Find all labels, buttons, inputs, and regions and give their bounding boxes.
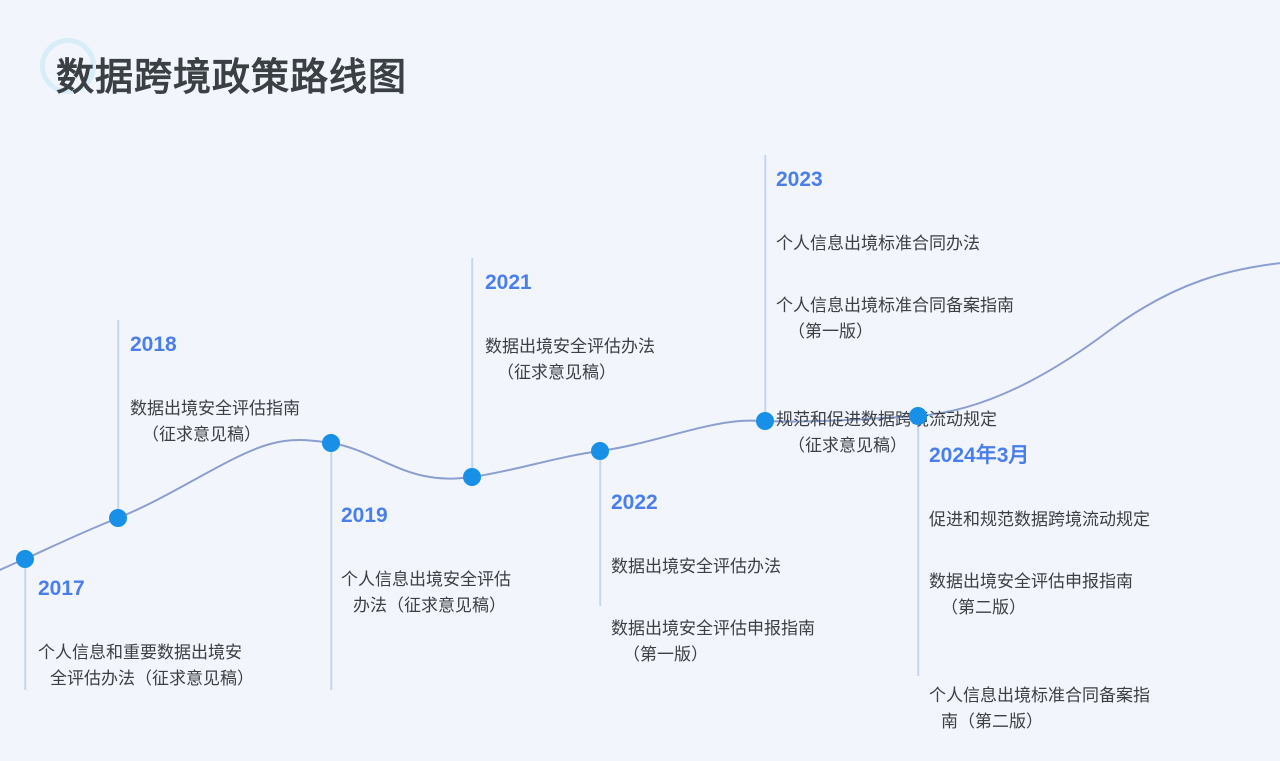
milestone-item: 个人信息出境安全评估 办法（征求意见稿）	[341, 541, 511, 645]
milestone-block-2018[interactable]: 2018 数据出境安全评估指南 （征求意见稿）	[130, 332, 300, 474]
milestone-item: 数据出境安全评估办法	[611, 528, 815, 580]
milestone-block-2019[interactable]: 2019 个人信息出境安全评估 办法（征求意见稿）	[341, 503, 511, 645]
milestone-item: 数据出境安全评估办法 （征求意见稿）	[485, 308, 655, 412]
connector-stem-2018	[117, 320, 119, 518]
milestone-block-2021[interactable]: 2021 数据出境安全评估办法 （征求意见稿）	[485, 270, 655, 412]
milestone-block-2024-03[interactable]: 2024年3月 促进和规范数据跨境流动规定 数据出境安全评估申报指南 （第二版）…	[929, 443, 1150, 761]
milestone-block-2023[interactable]: 2023 个人信息出境标准合同办法 个人信息出境标准合同备案指南 （第一版） 规…	[776, 167, 1014, 485]
milestone-year-2024-03: 2024年3月	[929, 443, 1150, 469]
milestone-dot-2017[interactable]	[16, 550, 34, 568]
milestone-item: 个人信息出境标准合同备案指南 （第一版）	[776, 267, 1014, 371]
connector-stem-2019	[330, 443, 332, 690]
milestone-dot-2019[interactable]	[322, 434, 340, 452]
connector-stem-2017	[24, 559, 26, 690]
milestone-item: 个人信息出境标准合同办法	[776, 205, 1014, 257]
connector-stem-2022	[599, 451, 601, 606]
milestone-item: 数据出境安全评估申报指南 （第一版）	[611, 590, 815, 694]
milestone-block-2022[interactable]: 2022 数据出境安全评估办法 数据出境安全评估申报指南 （第一版）	[611, 490, 815, 694]
milestone-year-2017: 2017	[38, 576, 254, 602]
milestone-year-2021: 2021	[485, 270, 655, 296]
milestone-year-2022: 2022	[611, 490, 815, 516]
milestone-item: 数据出境安全评估指南 （征求意见稿）	[130, 370, 300, 474]
connector-stem-2021	[471, 258, 473, 477]
milestone-year-2019: 2019	[341, 503, 511, 529]
milestone-dot-2023[interactable]	[756, 412, 774, 430]
milestone-dot-2018[interactable]	[109, 509, 127, 527]
milestone-year-2018: 2018	[130, 332, 300, 358]
roadmap-infographic: 数据跨境政策路线图 2017 个人信息和重要数据出境安 全评估办法（征求意见稿）…	[0, 0, 1280, 720]
milestone-block-2017[interactable]: 2017 个人信息和重要数据出境安 全评估办法（征求意见稿）	[38, 576, 254, 718]
milestone-dot-2024[interactable]	[909, 407, 927, 425]
milestone-item: 数据出境安全评估申报指南 （第二版）	[929, 543, 1150, 647]
milestone-item: 个人信息和重要数据出境安 全评估办法（征求意见稿）	[38, 614, 254, 718]
milestone-item: 个人信息出境标准合同备案指 南（第二版）	[929, 657, 1150, 761]
connector-stem-2023	[764, 155, 766, 421]
milestone-dot-2022[interactable]	[591, 442, 609, 460]
milestone-year-2023: 2023	[776, 167, 1014, 193]
milestone-item: 促进和规范数据跨境流动规定	[929, 481, 1150, 533]
milestone-dot-2021[interactable]	[463, 468, 481, 486]
